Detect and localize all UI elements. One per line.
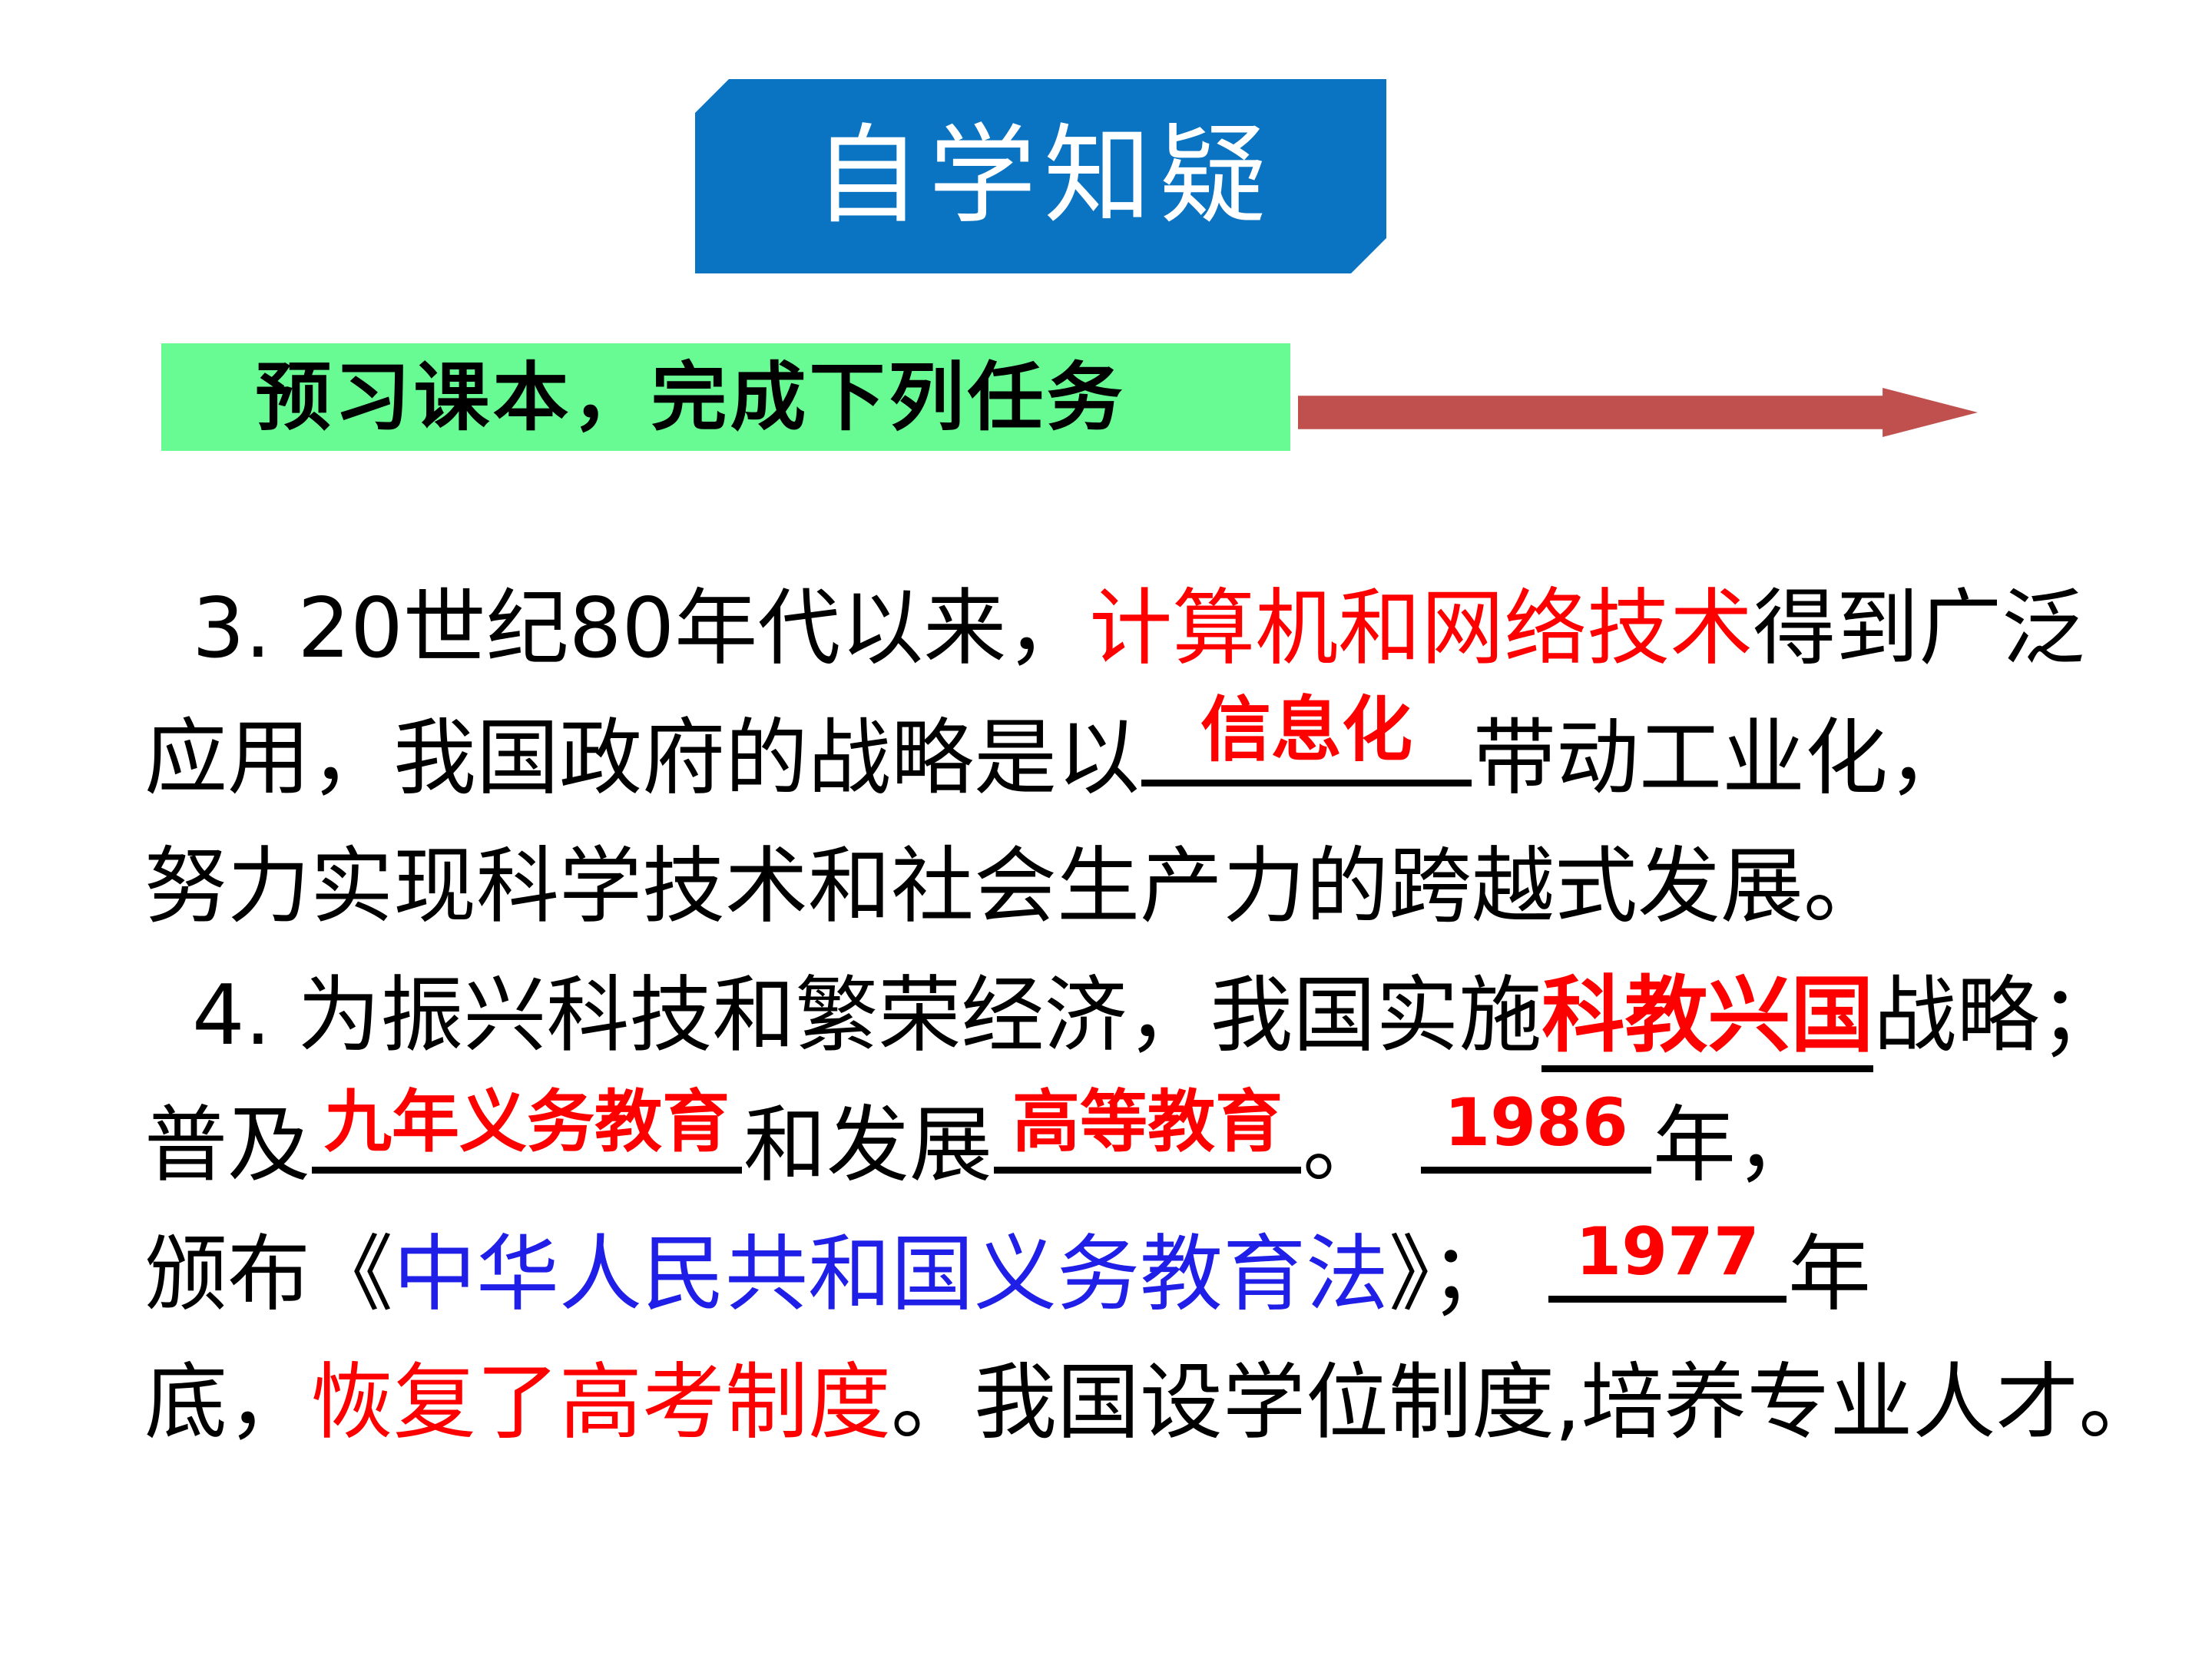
- item-4-text-d: 和发展: [743, 1098, 992, 1194]
- fill-blank-gaodeng[interactable]: 高等教育: [994, 1081, 1301, 1174]
- item-3-text-c: 应用，我国政府的战略是以: [144, 710, 1140, 806]
- item-4-text-b: 战略；: [1873, 968, 2122, 1064]
- item-3-text-b: 得到广泛: [1753, 581, 2085, 677]
- item-4-text-a: 4. 为振兴科技和繁荣经济，我国实施: [192, 968, 1541, 1064]
- list-item-3: 3. 20世纪80年代以来，计算机和网络技术得到广泛 应用，我国政府的战略是以信…: [144, 565, 2080, 952]
- item-4-text-j: 底，: [144, 1355, 310, 1451]
- law-title-blue: 中华人民共和国义务教育法: [393, 1227, 1389, 1323]
- fill-blank-xinxihua[interactable]: 信息化: [1141, 694, 1472, 786]
- item-3-keyword-red: 计算机和网络技术: [1089, 581, 1753, 677]
- item-3-text-d: 带动工业化，: [1473, 710, 1971, 806]
- body-content: 3. 20世纪80年代以来，计算机和网络技术得到广泛 应用，我国政府的战略是以信…: [144, 565, 2080, 1468]
- fill-blank-answer: 九年义务教育: [312, 1088, 742, 1156]
- item-4-text-g: 颁布《: [144, 1227, 393, 1323]
- fill-blank-jiunian[interactable]: 九年义务教育: [312, 1081, 742, 1174]
- item-3-line-2: 应用，我国政府的战略是以信息化带动工业化，: [144, 694, 2080, 823]
- item-4-text-c: 普及: [144, 1098, 310, 1194]
- item-4-text-k: 。我国设学位制度,培养专业人才。: [891, 1355, 2161, 1451]
- answer-gaokao-red: 恢复了高考制度: [310, 1355, 891, 1451]
- item-4-line-1: 4. 为振兴科技和繁荣经济，我国实施科教兴国战略；: [144, 952, 2080, 1081]
- item-4-line-4: 底，恢复了高考制度。我国设学位制度,培养专业人才。: [144, 1339, 2080, 1468]
- list-item-4: 4. 为振兴科技和繁荣经济，我国实施科教兴国战略； 普及九年义务教育和发展高等教…: [144, 952, 2080, 1468]
- fill-blank-1986[interactable]: 1986: [1421, 1081, 1651, 1174]
- item-3-line-1: 3. 20世纪80年代以来，计算机和网络技术得到广泛: [144, 565, 2080, 694]
- fill-blank-1977[interactable]: 1977: [1548, 1210, 1786, 1303]
- page-title: 自学知疑: [807, 123, 1274, 230]
- fill-blank-answer: 高等教育: [994, 1088, 1301, 1156]
- item-4-text-i: 年: [1788, 1227, 1871, 1323]
- item-4-text-h: 》；: [1389, 1227, 1513, 1323]
- item-3-text-a: 3. 20世纪80年代以来，: [192, 581, 1089, 677]
- item-4-line-3: 颁布《中华人民共和国义务教育法》；1977年: [144, 1210, 2080, 1339]
- arrow-shape: [1298, 388, 1978, 437]
- fill-blank-answer: 信息化: [1141, 695, 1472, 766]
- item-4-line-2: 普及九年义务教育和发展高等教育。1986年，: [144, 1081, 2080, 1210]
- answer-kejiaoxingguo[interactable]: 科教兴国: [1541, 968, 1873, 1072]
- item-3-text-e: 努力实现科学技术和社会生产力的跨越式发展。: [144, 839, 1886, 935]
- item-4-text-f: 年，: [1653, 1098, 1819, 1194]
- fill-blank-answer: 1986: [1421, 1090, 1651, 1156]
- task-instruction-label: 预习课本，完成下列任务: [161, 360, 1126, 435]
- task-instruction-bar: 预习课本，完成下列任务: [161, 343, 1290, 451]
- item-4-text-e: 。: [1303, 1098, 1386, 1194]
- item-3-line-3: 努力实现科学技术和社会生产力的跨越式发展。: [144, 823, 2080, 952]
- fill-blank-answer: 1977: [1548, 1219, 1786, 1285]
- title-banner: 自学知疑: [695, 79, 1386, 273]
- right-arrow-icon: [1298, 388, 1978, 437]
